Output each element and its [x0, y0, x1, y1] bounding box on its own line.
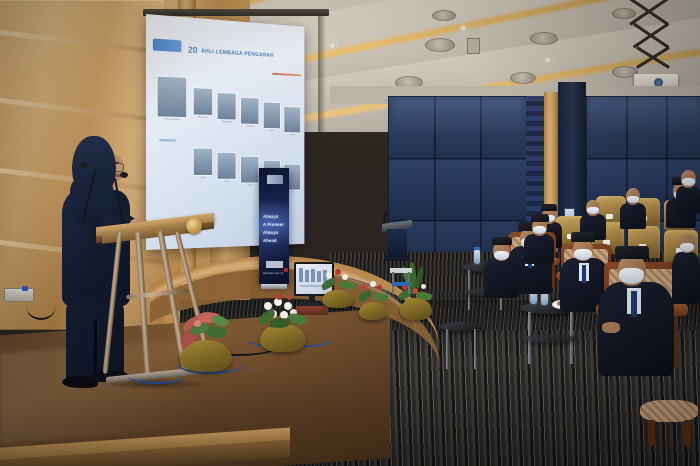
flower-arrangement	[176, 304, 238, 374]
ceiling-projector-lift	[620, 4, 692, 96]
hand	[602, 322, 620, 333]
projection-screen-case	[143, 9, 329, 16]
ceiling-downlight	[545, 58, 552, 63]
water-bottle	[474, 250, 480, 264]
ceiling-vent	[425, 38, 455, 52]
slide-portrait	[284, 107, 300, 132]
songkok-cap	[492, 237, 512, 245]
face-mask	[619, 268, 644, 284]
screen-edge-shadow	[318, 14, 326, 252]
anniversary-mark: 20	[188, 45, 197, 55]
banner-logo-icon	[267, 175, 283, 184]
banner-line-3: Always	[263, 230, 279, 235]
flower-basket	[400, 298, 432, 320]
roll-up-banner: Always A Pioneer Always Ahead www.site.c…	[259, 168, 289, 284]
slide-portrait-caption: Puan	[215, 181, 238, 184]
institution-logo-icon	[153, 38, 182, 52]
face-mask	[627, 196, 639, 203]
slide-portrait	[194, 149, 212, 175]
speaker-hijab	[72, 136, 116, 196]
podium-microphone-head	[120, 172, 128, 178]
banner-accent-dot	[284, 268, 288, 272]
ceiling-downlight	[330, 44, 336, 49]
slide-portrait	[194, 88, 212, 115]
songkok-cap	[615, 246, 649, 259]
face-mask	[574, 249, 592, 260]
slide-portrait	[264, 102, 280, 128]
slide-accent-line	[272, 73, 301, 76]
face-mask	[533, 226, 546, 234]
audience-person	[598, 248, 674, 376]
face-mask	[682, 178, 695, 186]
ceiling-vent	[432, 10, 456, 21]
ceiling-vent	[530, 32, 558, 45]
slide-chairman-label: PENGERUSI	[160, 138, 176, 142]
slide-portrait-caption: Puan	[282, 134, 303, 137]
face-mask	[494, 251, 509, 260]
av-trolley	[390, 268, 412, 296]
banner-line-1: Always	[263, 214, 279, 219]
songkok-cap	[531, 214, 549, 222]
slide-portrait-caption: YBhg. Datuk	[215, 121, 238, 124]
audience-person	[524, 216, 554, 264]
banner-stand	[261, 284, 287, 289]
slide-portrait-caption: Tuan Haji	[238, 125, 261, 128]
face-mask	[680, 243, 694, 252]
ceiling-downlight	[460, 26, 467, 31]
podium-microphone-head	[80, 162, 89, 168]
audience-person	[484, 238, 518, 298]
slide-portrait	[241, 157, 259, 183]
banner-url: www.site.com.my	[263, 272, 283, 275]
songkok-cap	[541, 204, 557, 211]
podium-leg	[103, 232, 123, 374]
flower-basket	[359, 302, 387, 320]
audience-person	[672, 232, 700, 304]
photograph-scene: 20 AHLI LEMBAGA PENGARAH YBhg. Datuk Ser…	[0, 0, 700, 466]
slide-portrait	[218, 153, 236, 179]
slide-portrait-caption: Tuan	[238, 184, 261, 187]
slide-portrait-caption: YBhg. Dato'	[191, 116, 215, 119]
flower-arrangement	[318, 266, 358, 310]
slide-portrait-caption: Encik	[261, 130, 282, 133]
slide-portrait-caption: Encik	[191, 177, 215, 180]
banner-footer-logo	[266, 261, 283, 268]
banner-line-4: Ahead	[263, 238, 277, 243]
slide-portrait	[241, 98, 259, 124]
songkok-cap	[571, 232, 595, 242]
face-mask	[587, 207, 599, 214]
audience-person	[676, 168, 700, 214]
podium-crest-emblem	[186, 218, 202, 234]
flower-basket	[322, 290, 354, 308]
audience-person	[620, 186, 646, 228]
flower-basket	[260, 324, 306, 352]
slide-portrait-caption: YBhg. Datuk Seri	[154, 118, 190, 122]
banner-line-2: A Pioneer	[263, 222, 284, 227]
slide-title: AHLI LEMBAGA PENGARAH	[201, 49, 274, 59]
ornate-stool	[640, 400, 700, 450]
slide-portrait	[158, 77, 187, 118]
podium-leg	[135, 232, 151, 376]
side-table	[440, 322, 484, 378]
ceiling-vent	[510, 72, 536, 84]
ceiling-air-diffuser	[467, 38, 480, 54]
slide-portrait	[218, 93, 236, 120]
flower-arrangement	[254, 292, 312, 354]
flower-arrangement	[356, 276, 390, 322]
